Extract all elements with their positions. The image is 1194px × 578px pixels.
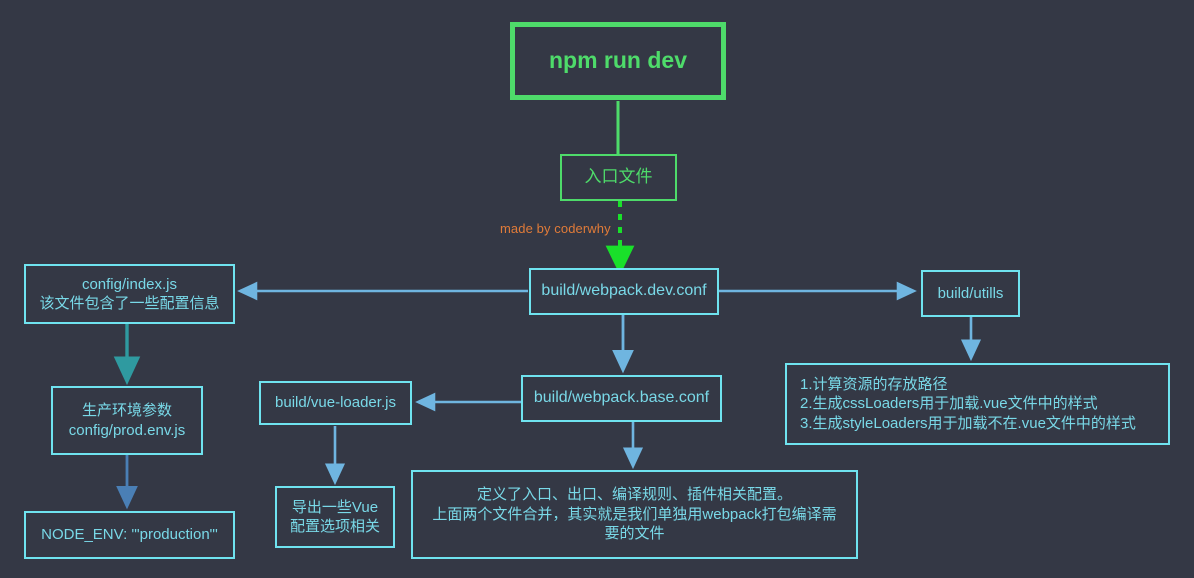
node-webpack-dev-conf-label: build/webpack.dev.conf <box>541 281 706 302</box>
node-prod-env[interactable]: 生产环境参数 config/prod.env.js <box>51 386 203 455</box>
diagram-canvas: npm run dev 入口文件 made by coderwhy build/… <box>0 0 1194 578</box>
node-entry-file[interactable]: 入口文件 <box>560 154 677 201</box>
node-base-conf-notes: 定义了入口、出口、编译规则、插件相关配置。 上面两个文件合并，其实就是我们单独用… <box>411 470 858 559</box>
node-build-utills[interactable]: build/utills <box>921 270 1020 317</box>
node-entry-file-label: 入口文件 <box>585 166 653 188</box>
node-base-conf-notes-label: 定义了入口、出口、编译规则、插件相关配置。 上面两个文件合并，其实就是我们单独用… <box>432 485 836 544</box>
node-npm-run-dev-label: npm run dev <box>549 46 687 76</box>
node-webpack-base-conf-label: build/webpack.base.conf <box>534 388 709 409</box>
node-config-index[interactable]: config/index.js 该文件包含了一些配置信息 <box>24 264 235 324</box>
node-node-env-label: NODE_ENV: '"production"' <box>41 525 218 545</box>
node-config-index-label: config/index.js 该文件包含了一些配置信息 <box>39 275 219 314</box>
node-utills-notes: 1.计算资源的存放路径 2.生成cssLoaders用于加载.vue文件中的样式… <box>785 363 1170 445</box>
node-vue-loader[interactable]: build/vue-loader.js <box>259 381 412 425</box>
node-prod-env-label: 生产环境参数 config/prod.env.js <box>69 401 185 440</box>
node-webpack-dev-conf[interactable]: build/webpack.dev.conf <box>529 268 719 315</box>
node-node-env[interactable]: NODE_ENV: '"production"' <box>24 511 235 559</box>
watermark-coderwhy: made by coderwhy <box>500 221 611 236</box>
node-vue-loader-notes: 导出一些Vue 配置选项相关 <box>275 486 395 548</box>
node-vue-loader-notes-label: 导出一些Vue 配置选项相关 <box>290 498 380 537</box>
node-utills-notes-label: 1.计算资源的存放路径 2.生成cssLoaders用于加载.vue文件中的样式… <box>800 375 1136 434</box>
node-npm-run-dev[interactable]: npm run dev <box>510 22 726 100</box>
node-vue-loader-label: build/vue-loader.js <box>275 393 396 413</box>
node-webpack-base-conf[interactable]: build/webpack.base.conf <box>521 375 722 422</box>
node-build-utills-label: build/utills <box>938 284 1004 304</box>
